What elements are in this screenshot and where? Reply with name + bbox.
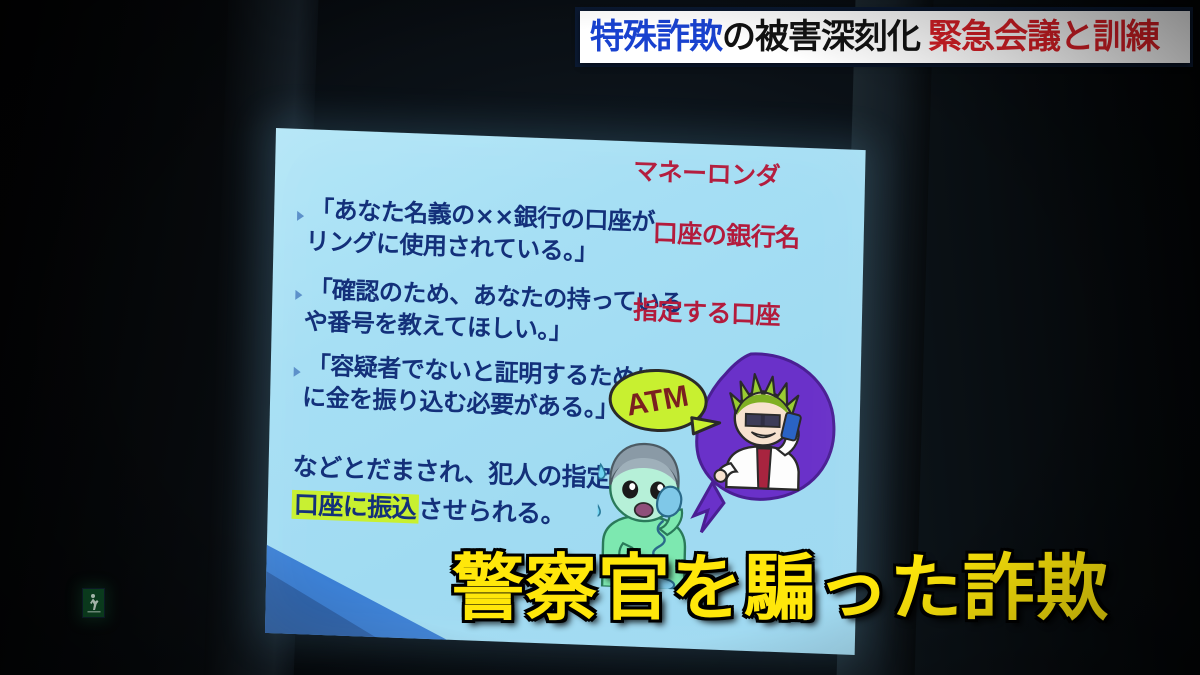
emergency-exit-sign xyxy=(82,588,105,618)
headline-segment-red: 緊急会議と訓練 xyxy=(928,20,1159,54)
slide-red-line-1: マネーロンダ xyxy=(633,151,781,193)
tv-news-screenshot: マネーロンダ 「あなた名義の××銀行の口座が リングに使用されている。」 口座の… xyxy=(0,0,1200,675)
headline-segment-black: の被害深刻化 xyxy=(722,20,920,54)
atm-speech-bubble: ATM xyxy=(609,369,720,435)
slide-content: マネーロンダ 「あなた名義の××銀行の口座が リングに使用されている。」 口座の… xyxy=(298,145,856,166)
headline-segment-blue: 特殊詐欺 xyxy=(590,20,722,54)
slide-decoration-triangle-inner xyxy=(265,569,380,639)
bottom-caption: 警察官を騙った詐欺 xyxy=(452,552,1109,624)
slide-closing-highlight: 口座に振込 xyxy=(291,490,418,524)
slide-red-line-2: 口座の銀行名 xyxy=(652,213,800,255)
slide-bullet-marker-2 xyxy=(295,290,302,300)
running-person-icon xyxy=(87,593,101,613)
room-curtain-left xyxy=(0,0,232,675)
headline-banner: 特殊詐欺 の被害深刻化 緊急会議と訓練 xyxy=(580,11,1190,63)
slide-red-line-3: 指定する口座 xyxy=(633,291,781,333)
slide-closing-line-2: 口座に振込させられる。 xyxy=(291,485,565,531)
slide-bullet-marker-3 xyxy=(294,367,301,377)
slide-closing-rest: させられる。 xyxy=(418,495,566,530)
slide-bullet-marker-1 xyxy=(297,211,304,221)
